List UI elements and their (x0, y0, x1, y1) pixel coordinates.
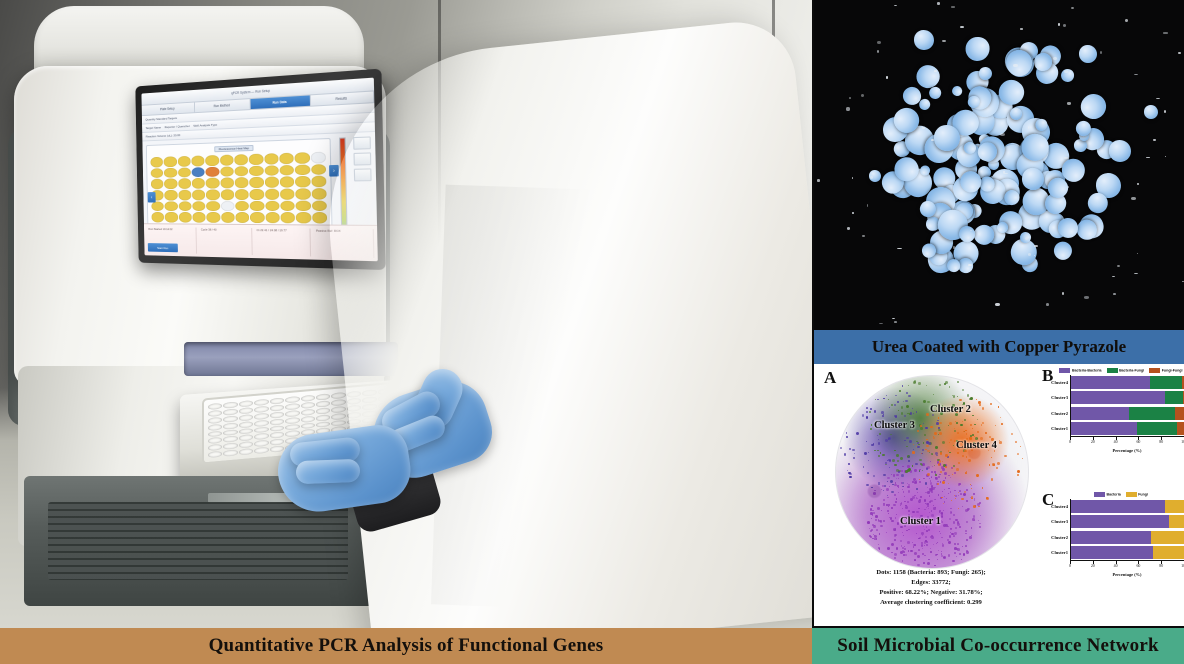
well[interactable] (264, 165, 278, 176)
network-node (982, 487, 984, 489)
network-node (874, 490, 875, 491)
plate-well (239, 441, 253, 448)
well[interactable] (179, 212, 192, 222)
network-node (990, 403, 992, 405)
network-node (888, 504, 890, 506)
well[interactable] (295, 164, 310, 175)
well[interactable] (296, 200, 311, 211)
bar-segment (1153, 546, 1184, 559)
network-node (888, 513, 890, 515)
well[interactable] (281, 212, 296, 223)
network-node (948, 493, 949, 494)
well[interactable] (280, 188, 295, 199)
well[interactable] (250, 212, 264, 223)
well[interactable] (235, 177, 249, 188)
well[interactable] (206, 189, 220, 200)
well[interactable] (235, 201, 249, 212)
stat-line: Dots: 1158 (Bacteria: 893; Fungi: 265); (822, 568, 1040, 578)
network-node (974, 500, 975, 501)
pcr-lab-photo: qPCR System — Run Setup Plate Setup Run … (0, 0, 812, 628)
bar-segment (1177, 422, 1184, 435)
instrument-vent-grille (48, 502, 348, 580)
well[interactable] (164, 168, 177, 178)
well[interactable] (178, 156, 191, 167)
network-node (965, 430, 966, 431)
network-node (966, 550, 968, 552)
debris-speck (942, 40, 946, 42)
well[interactable] (250, 177, 264, 188)
well[interactable] (220, 189, 234, 200)
legend-b: Bacteria-BacteriaBacteria-FungiFungi-Fun… (1040, 368, 1184, 373)
network-node (977, 431, 979, 433)
network-node (878, 442, 881, 445)
well[interactable] (249, 154, 263, 165)
network-node (901, 545, 902, 546)
well[interactable] (265, 177, 279, 188)
well[interactable] (192, 201, 205, 211)
network-node (973, 493, 975, 495)
network-node (924, 541, 926, 543)
debris-speck (1020, 28, 1022, 29)
plate-well (223, 422, 237, 429)
network-node (848, 463, 850, 465)
network-node (959, 526, 961, 528)
network-node (957, 521, 960, 524)
debris-speck (879, 323, 883, 324)
legend-label: Fungi-Fungi (1162, 368, 1183, 372)
well[interactable] (191, 155, 204, 166)
network-node (961, 559, 962, 560)
network-node (926, 544, 928, 546)
network-node (923, 442, 925, 444)
plate-well (270, 397, 284, 404)
well[interactable] (279, 153, 294, 164)
network-node (957, 432, 959, 434)
plate-well (331, 419, 345, 426)
network-node (910, 412, 913, 415)
well[interactable] (264, 153, 278, 164)
network-node (1022, 458, 1024, 460)
network-node (870, 530, 872, 532)
network-node (974, 424, 976, 426)
network-node (904, 546, 906, 548)
network-node (960, 493, 962, 495)
well[interactable] (280, 200, 295, 211)
network-node (896, 469, 899, 472)
network-node (916, 446, 917, 447)
network-node (954, 428, 955, 429)
well[interactable] (150, 157, 163, 167)
debris-speck (931, 139, 934, 141)
network-node (872, 538, 873, 539)
network-analysis-panel: A Cluster 2 Cluster 3 Cluster 4 Cluster … (814, 364, 1184, 626)
plate-well (223, 415, 237, 422)
network-node (893, 474, 896, 477)
network-node (919, 537, 921, 539)
network-node (902, 508, 903, 509)
debris-speck (1028, 253, 1031, 256)
status-cell: Cycle 38 / 40 (199, 228, 252, 256)
debris-speck (852, 177, 853, 179)
network-node (971, 527, 972, 528)
well[interactable] (151, 168, 164, 178)
network-node (871, 529, 873, 531)
debris-speck (1100, 51, 1102, 54)
network-node (904, 501, 905, 502)
legend-item: Bacteria (1094, 492, 1121, 497)
network-node (873, 475, 875, 477)
well[interactable] (235, 212, 249, 223)
well[interactable] (312, 212, 327, 223)
well[interactable] (280, 176, 295, 187)
well[interactable] (234, 166, 248, 177)
well[interactable] (250, 189, 264, 200)
network-node (878, 482, 880, 484)
start-run-button[interactable]: Start Run (148, 243, 178, 252)
network-node (891, 552, 893, 554)
well[interactable] (207, 212, 221, 222)
network-node (907, 413, 909, 415)
network-node (938, 463, 941, 466)
network-node (924, 529, 926, 531)
stat-line: Average clustering coefficient: 0.299 (822, 598, 1040, 608)
network-node (870, 408, 872, 410)
network-node (932, 466, 934, 468)
well[interactable] (206, 201, 220, 211)
network-node (873, 443, 874, 444)
network-node (941, 555, 943, 557)
well[interactable] (206, 178, 220, 189)
plate-well (285, 430, 299, 437)
urea-granule (1076, 89, 1110, 123)
network-node (931, 510, 932, 511)
network-node (894, 494, 896, 496)
bar-stack (1071, 500, 1184, 513)
well[interactable] (250, 200, 264, 211)
plate-well (316, 393, 330, 400)
network-node (897, 401, 899, 403)
network-node (873, 512, 875, 514)
debris-speck (892, 318, 895, 319)
network-node (866, 407, 868, 409)
bar-rows: Cluster4Cluster3Cluster2Cluster1 (1071, 375, 1184, 436)
network-node (912, 408, 913, 409)
network-node (896, 474, 898, 476)
network-node (958, 462, 960, 464)
well[interactable] (165, 201, 178, 211)
debris-speck (1163, 32, 1167, 33)
well[interactable] (311, 152, 326, 163)
well[interactable] (221, 201, 235, 212)
well[interactable] (192, 167, 205, 178)
debris-speck (849, 97, 851, 99)
network-node (943, 480, 944, 481)
network-node (903, 554, 905, 556)
network-node (946, 498, 947, 499)
granule-title-band: Urea Coated with Copper Pyrazole (814, 330, 1184, 364)
network-node (954, 495, 955, 496)
network-node (930, 482, 932, 484)
network-node (940, 533, 941, 534)
debris-speck (937, 2, 940, 5)
plate-well (254, 412, 268, 419)
network-node (922, 449, 925, 452)
debris-speck (1113, 293, 1115, 295)
well[interactable] (296, 212, 311, 223)
network-node (867, 472, 869, 474)
well[interactable] (192, 212, 205, 222)
bar-row-label: Cluster2 (1051, 411, 1068, 416)
network-node (979, 502, 981, 504)
well[interactable] (152, 212, 165, 222)
well[interactable] (295, 176, 310, 187)
well[interactable] (311, 188, 326, 199)
network-node (883, 499, 885, 501)
urea-granule (980, 176, 995, 191)
debris-speck (1146, 157, 1151, 158)
x-axis-b: 020406080100 (1070, 437, 1184, 447)
network-node (907, 465, 910, 468)
network-node (883, 490, 884, 491)
network-node (918, 500, 920, 502)
well[interactable] (265, 212, 279, 223)
network-node (906, 530, 908, 532)
urea-granule (950, 84, 964, 98)
network-node (941, 521, 943, 523)
network-node (919, 471, 920, 472)
well[interactable] (206, 166, 220, 177)
cluster-label-1: Cluster 1 (900, 516, 941, 527)
urea-granule (1079, 45, 1097, 63)
network-node (937, 420, 938, 421)
network-node (894, 553, 897, 556)
network-node (902, 550, 904, 552)
plate-well (239, 434, 253, 441)
network-node (935, 477, 937, 479)
network-node (889, 407, 890, 408)
debris-speck (1086, 107, 1087, 108)
well[interactable] (311, 176, 326, 187)
network-node (939, 510, 941, 512)
well[interactable] (311, 164, 326, 175)
plate-well (331, 406, 345, 413)
network-node (879, 533, 881, 535)
network-node (927, 401, 930, 404)
urea-granule (1109, 140, 1131, 162)
network-node (922, 470, 923, 471)
bar-row-label: Cluster3 (1051, 519, 1068, 524)
bar-row: Cluster2 (1071, 407, 1184, 420)
well[interactable] (192, 189, 205, 199)
network-node (920, 425, 923, 428)
network-node (895, 528, 896, 529)
network-node (849, 448, 851, 450)
network-node (930, 536, 931, 537)
network-node (917, 492, 918, 493)
network-node (891, 507, 893, 509)
well[interactable] (296, 188, 311, 199)
network-node (913, 444, 915, 446)
network-node (965, 530, 967, 532)
well[interactable] (295, 152, 310, 163)
network-node (918, 549, 920, 551)
network-node (908, 468, 911, 471)
network-node (978, 506, 979, 507)
well[interactable] (151, 179, 164, 189)
network-node (965, 472, 967, 474)
network-node (966, 539, 968, 541)
network-node (900, 540, 902, 542)
plate-well (254, 406, 268, 413)
bar-segment (1071, 422, 1137, 435)
well[interactable] (151, 201, 164, 211)
network-node (932, 487, 935, 490)
network-node (893, 504, 896, 507)
network-node (993, 464, 995, 466)
debris-speck (1164, 110, 1166, 113)
network-node (939, 474, 941, 476)
network-node (895, 415, 897, 417)
network-node (885, 439, 888, 442)
network-node (920, 496, 921, 497)
network-node (901, 474, 904, 477)
network-node (869, 528, 870, 529)
network-node (943, 557, 945, 559)
network-node (925, 540, 926, 541)
network-node (926, 468, 928, 470)
debris-speck (1064, 157, 1068, 158)
network-node (917, 564, 920, 567)
well[interactable] (178, 201, 191, 211)
plate-well (301, 408, 315, 415)
stat-line: Edges: 33772; (822, 578, 1040, 588)
network-node (941, 466, 944, 469)
network-node (856, 432, 859, 435)
debris-speck (1058, 23, 1060, 26)
well[interactable] (312, 200, 327, 211)
debris-speck (951, 6, 955, 7)
plate-well (270, 404, 284, 411)
network-node (969, 536, 972, 539)
debris-speck (861, 94, 864, 97)
network-node (846, 436, 848, 438)
network-node (931, 491, 933, 493)
debris-speck (995, 303, 999, 306)
network-node (914, 552, 917, 555)
well[interactable] (235, 189, 249, 200)
well[interactable] (164, 156, 177, 167)
well[interactable] (220, 178, 234, 189)
well[interactable] (234, 154, 248, 165)
network-node (891, 543, 894, 546)
network-node (898, 410, 900, 412)
well[interactable] (164, 179, 177, 189)
debris-speck (1053, 57, 1057, 60)
well[interactable] (178, 190, 191, 200)
network-node (917, 442, 919, 444)
figure-composite: qPCR System — Run Setup Plate Setup Run … (0, 0, 1184, 664)
well[interactable] (178, 167, 191, 178)
well[interactable] (265, 200, 279, 211)
network-node (977, 419, 978, 420)
well[interactable] (280, 165, 295, 176)
network-node (997, 462, 1000, 465)
well[interactable] (165, 190, 178, 200)
well[interactable] (178, 178, 191, 188)
debris-speck (1063, 24, 1066, 27)
debris-speck (1153, 139, 1156, 141)
network-node (871, 444, 874, 447)
network-node (964, 431, 965, 432)
network-node (962, 421, 963, 422)
well[interactable] (249, 165, 263, 176)
well[interactable] (220, 166, 234, 177)
legend-label: Bacteria (1107, 492, 1121, 496)
network-node (872, 510, 873, 511)
network-node (939, 464, 941, 466)
network-node (977, 503, 980, 506)
network-node (878, 519, 880, 521)
network-node (871, 518, 872, 519)
network-node (924, 499, 926, 501)
network-node (876, 538, 878, 540)
network-node (883, 398, 884, 399)
well[interactable] (165, 212, 178, 222)
network-node (873, 492, 875, 494)
network-node (890, 517, 893, 520)
well[interactable] (205, 155, 219, 166)
plate-well (254, 419, 268, 426)
network-node (970, 484, 971, 485)
debris-speck (852, 212, 854, 214)
plate-well (208, 423, 222, 430)
network-node (978, 520, 979, 521)
network-node (888, 437, 891, 440)
well[interactable] (265, 189, 279, 200)
network-node (866, 416, 869, 419)
network-node (949, 518, 951, 520)
network-node (939, 511, 940, 512)
plate-well (331, 399, 345, 406)
network-node (959, 553, 961, 555)
well[interactable] (221, 212, 235, 223)
network-node (908, 529, 909, 530)
bar-row: Cluster3 (1071, 515, 1184, 528)
plate-well (285, 403, 299, 410)
network-node (977, 476, 978, 477)
network-node (883, 414, 885, 416)
network-node (912, 496, 915, 499)
prev-button[interactable]: ‹ (148, 192, 156, 202)
network-node (965, 545, 967, 547)
bar-segment (1071, 515, 1169, 528)
network-node (914, 559, 916, 561)
debris-speck (1034, 245, 1038, 248)
network-node (868, 452, 869, 453)
plate-well (285, 396, 299, 403)
plate-well (270, 432, 284, 439)
network-node (848, 472, 851, 475)
plate-well (208, 451, 222, 458)
well[interactable] (220, 155, 234, 166)
well[interactable] (192, 178, 205, 189)
network-node (959, 483, 961, 485)
urea-granule (1058, 217, 1079, 238)
network-node (921, 542, 923, 544)
network-node (884, 485, 886, 487)
legend-swatch (1149, 368, 1160, 373)
network-node (926, 541, 928, 543)
